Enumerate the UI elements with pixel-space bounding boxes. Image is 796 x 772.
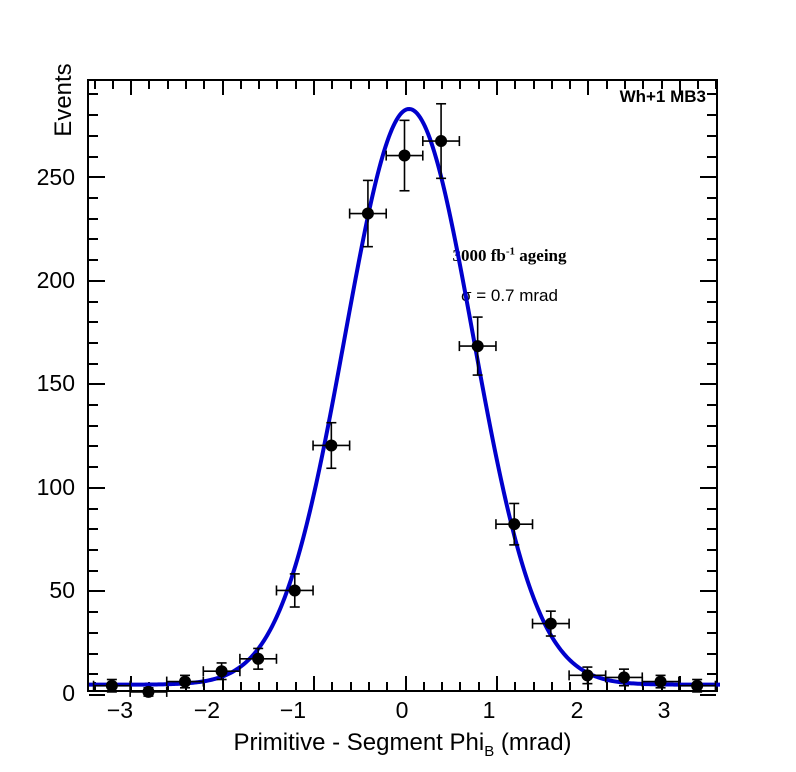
x-tick-label-1: 1 — [459, 697, 519, 724]
marker-8 — [399, 150, 411, 162]
data-point-10 — [459, 317, 496, 375]
x-tick-label-minus3: −3 — [90, 697, 150, 724]
data-point-6 — [313, 423, 350, 469]
marker-9 — [435, 135, 447, 147]
y-tick-label-50: 50 — [0, 577, 75, 604]
plot-frame: Wh+1 MB3 3000 fb-1 ageing σ = 0.7 mrad — [87, 79, 718, 692]
x-tick-label-3: 3 — [634, 697, 694, 724]
marker-11 — [508, 518, 520, 530]
data-point-7 — [350, 180, 387, 246]
gaussian-fit-curve — [89, 109, 720, 685]
marker-15 — [655, 676, 667, 688]
marker-1 — [142, 686, 154, 698]
data-point-16 — [679, 680, 716, 692]
marker-13 — [581, 669, 593, 681]
marker-2 — [179, 676, 191, 688]
data-point-12 — [533, 611, 570, 636]
marker-10 — [472, 340, 484, 352]
y-tick-label-250: 250 — [0, 164, 75, 191]
data-point-11 — [496, 503, 533, 544]
marker-4 — [252, 653, 264, 665]
x-tick-label-minus1: −1 — [263, 697, 323, 724]
x-axis-title: Primitive - Segment PhiB (mrad) — [87, 729, 718, 760]
marker-12 — [545, 618, 557, 630]
marker-0 — [106, 680, 118, 692]
y-tick-label-0: 0 — [0, 680, 75, 707]
data-point-group — [94, 104, 716, 698]
marker-5 — [289, 584, 301, 596]
x-axis-title-subscript: B — [484, 743, 494, 760]
x-tick-label-0: 0 — [372, 697, 432, 724]
marker-3 — [216, 665, 228, 677]
y-tick-label-200: 200 — [0, 267, 75, 294]
data-point-3 — [203, 663, 240, 680]
y-axis-title: Events — [50, 20, 78, 180]
y-tick-right-0 — [700, 694, 716, 696]
y-tick-label-100: 100 — [0, 474, 75, 501]
x-axis-title-unit: (mrad) — [494, 729, 571, 756]
x-tick-label-2: 2 — [547, 697, 607, 724]
x-axis-title-main: Primitive - Segment Phi — [233, 729, 484, 756]
data-point-4 — [240, 648, 277, 669]
x-tick-label-minus2: −2 — [177, 697, 237, 724]
marker-16 — [691, 680, 703, 692]
plot-canvas: CMS Phase-2 Simulation Preliminary PU 20… — [0, 0, 796, 772]
marker-14 — [618, 671, 630, 683]
data-point-13 — [569, 667, 606, 684]
y-tick-label-150: 150 — [0, 370, 75, 397]
data-point-9 — [423, 104, 460, 179]
cms-header: CMS Phase-2 Simulation Preliminary PU 20… — [0, 38, 796, 72]
data-layer — [89, 81, 720, 694]
marker-7 — [362, 208, 374, 220]
y-tick-0 — [89, 694, 105, 696]
data-point-0 — [94, 680, 131, 692]
marker-6 — [325, 439, 337, 451]
